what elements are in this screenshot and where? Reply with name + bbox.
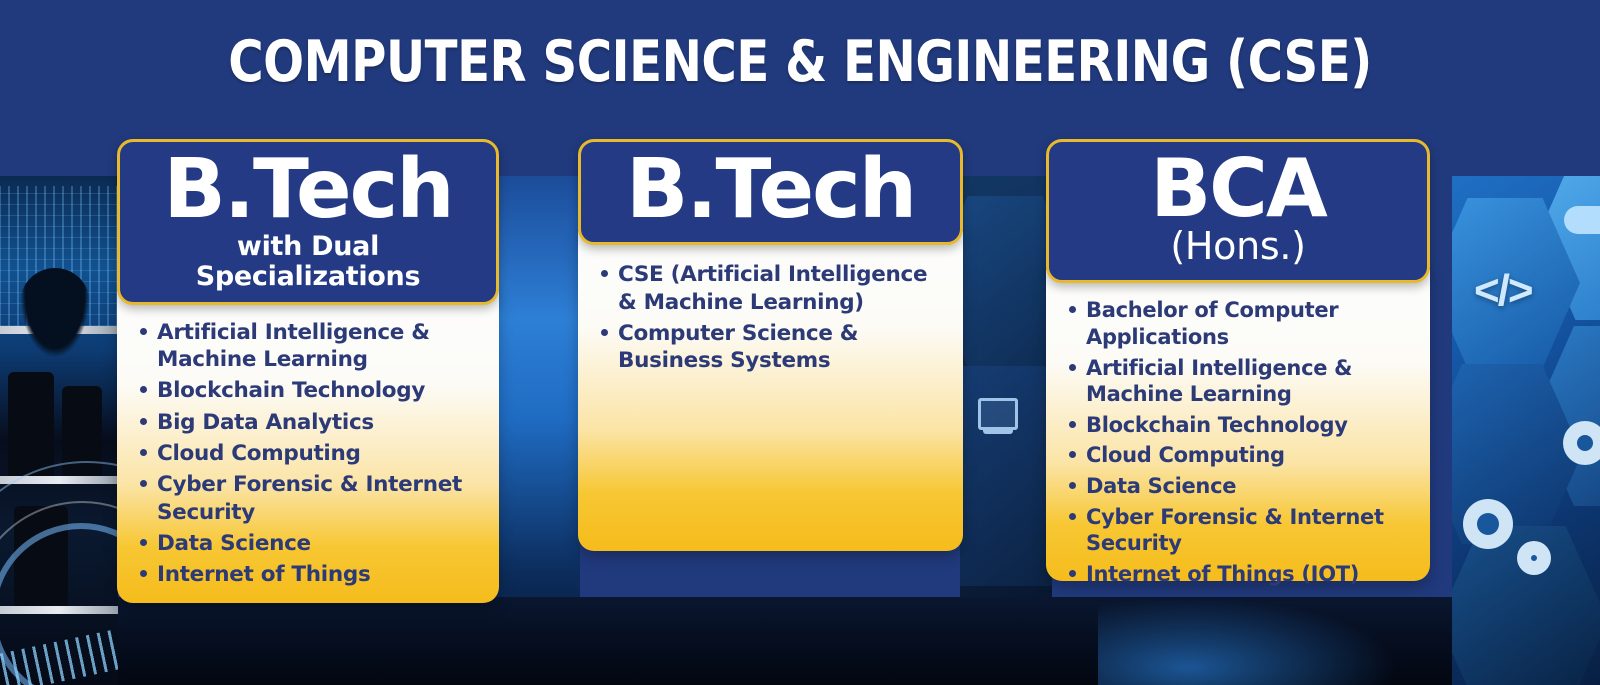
specialization-list: Artificial Intelligence & Machine Learni… [133,319,483,589]
card-body: Artificial Intelligence & Machine Learni… [117,291,499,603]
card-body: Bachelor of Computer Applications Artifi… [1046,269,1430,581]
list-item: Cloud Computing [157,440,483,467]
card-header: B.Tech [578,139,963,245]
list-item: Blockchain Technology [157,377,483,404]
card-title: BCA [1059,150,1417,228]
specialization-list: Bachelor of Computer Applications Artifi… [1062,297,1414,588]
program-card-bca-hons[interactable]: BCA (Hons.) Bachelor of Computer Applica… [1046,139,1430,581]
card-header: B.Tech with Dual Specializations [117,139,499,305]
card-subtitle: (Hons.) [1059,226,1417,268]
list-item: Artificial Intelligence & Machine Learni… [157,319,483,374]
list-item: CSE (Artificial Intelligence & Machine L… [618,261,947,316]
card-header: BCA (Hons.) [1046,139,1430,283]
list-item: Big Data Analytics [157,409,483,436]
program-card-btech[interactable]: B.Tech CSE (Artificial Intelligence & Ma… [578,139,963,551]
list-item: Data Science [157,530,483,557]
card-subtitle: with Dual Specializations [130,232,486,291]
card-title: B.Tech [591,150,950,230]
list-item: Blockchain Technology [1086,412,1414,439]
list-item: Internet of Things (IOT) [1086,561,1414,588]
program-card-btech-dual[interactable]: B.Tech with Dual Specializations Artific… [117,139,499,603]
list-item: Cloud Computing [1086,442,1414,469]
list-item: Cyber Forensic & Internet Security [157,471,483,526]
list-item: Computer Science & Business Systems [618,320,947,375]
program-card-list: B.Tech with Dual Specializations Artific… [0,0,1600,685]
list-item: Cyber Forensic & Internet Security [1086,504,1414,557]
cse-program-banner: </> COMPUTER SCIENCE & ENGINEERING (CSE)… [0,0,1600,685]
list-item: Data Science [1086,473,1414,500]
list-item: Internet of Things [157,561,483,588]
card-title: B.Tech [130,150,486,230]
specialization-list: CSE (Artificial Intelligence & Machine L… [594,261,947,374]
card-body: CSE (Artificial Intelligence & Machine L… [578,231,963,551]
list-item: Artificial Intelligence & Machine Learni… [1086,355,1414,408]
list-item: Bachelor of Computer Applications [1086,297,1414,350]
